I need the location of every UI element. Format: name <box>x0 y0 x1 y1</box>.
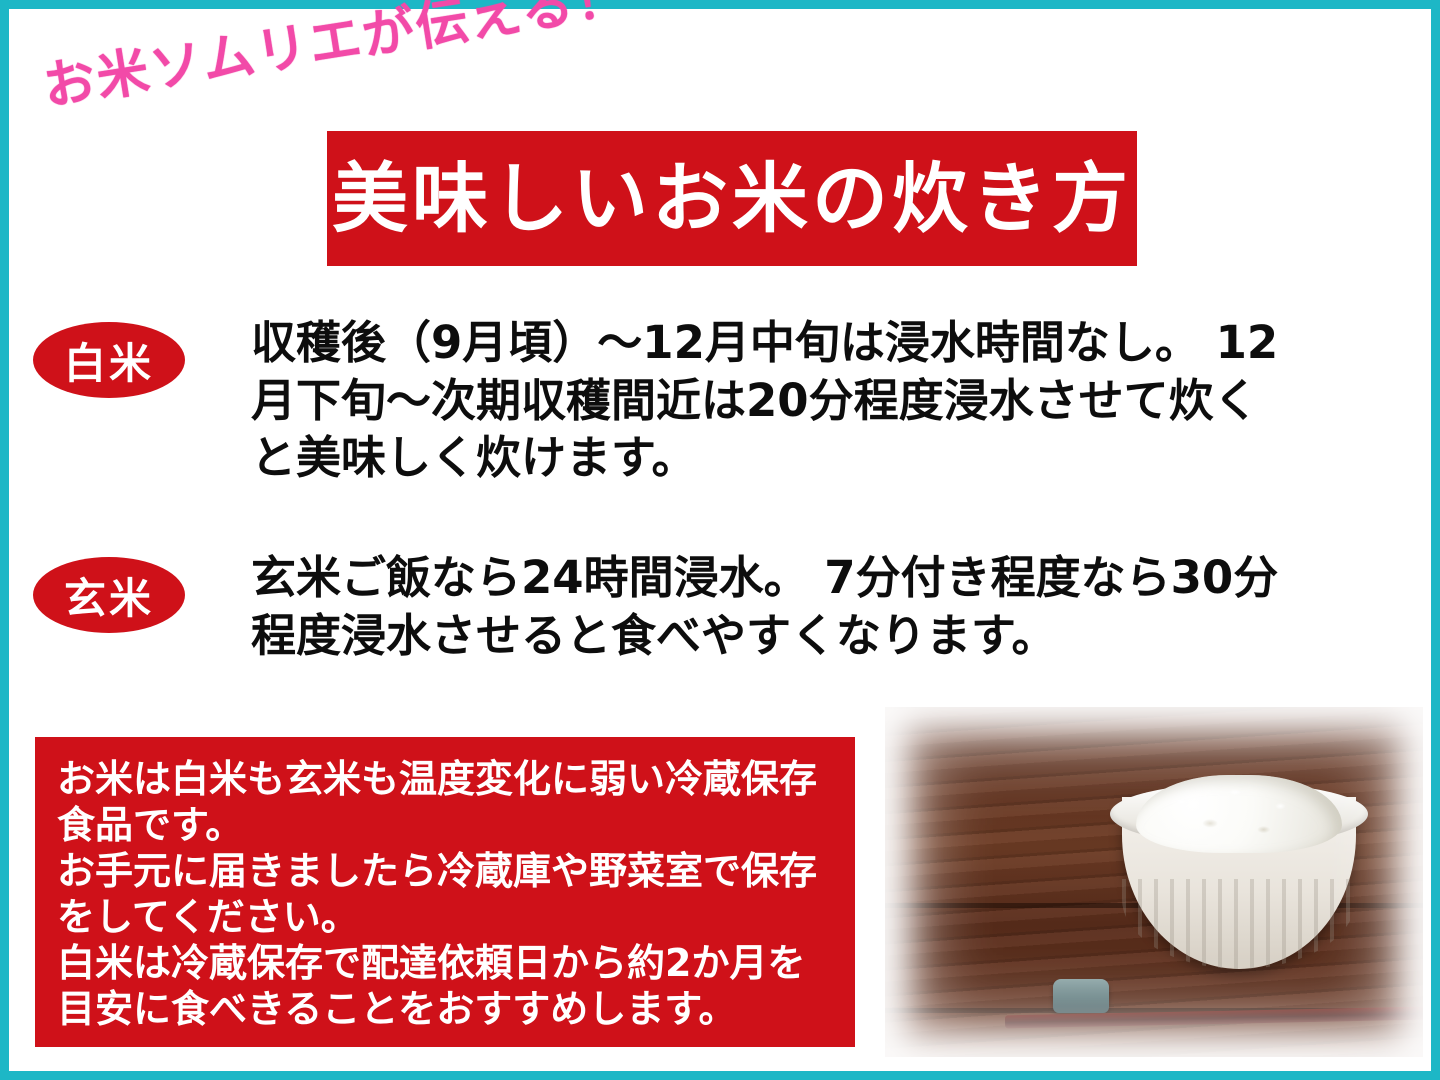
rice-bowl-photo <box>885 707 1423 1057</box>
cooked-rice <box>1136 775 1342 853</box>
section-genmai-line-1: 玄米ご飯なら24時間浸水。 7分付き程度なら30分 <box>251 549 1401 607</box>
bowl-ribs <box>1122 879 1356 969</box>
chopstick-rest <box>1053 979 1109 1013</box>
section-hakumai-line-2: 月下旬〜次期収穫間近は20分程度浸水させて炊く <box>251 372 1401 430</box>
section-hakumai: 白米 収穫後（9月頃）〜12月中旬は浸水時間なし。 12 月下旬〜次期収穫間近は… <box>33 314 1401 487</box>
title-banner: 美味しいお米の炊き方 <box>327 131 1137 266</box>
storage-note-line-2: 食品です。 <box>57 803 835 849</box>
section-genmai: 玄米 玄米ご飯なら24時間浸水。 7分付き程度なら30分 程度浸水させると食べや… <box>33 549 1401 664</box>
poster-root: お米ソムリエが伝える！ 美味しいお米の炊き方 白米 収穫後（9月頃）〜12月中旬… <box>0 0 1440 1080</box>
section-hakumai-line-1: 収穫後（9月頃）〜12月中旬は浸水時間なし。 12 <box>251 314 1401 372</box>
storage-note-line-5: 白米は冷蔵保存で配達依頼日から約2か月を <box>57 941 835 987</box>
storage-note-line-6: 目安に食べきることをおすすめします。 <box>57 987 835 1033</box>
badge-genmai: 玄米 <box>33 557 185 633</box>
storage-note-line-4: をしてください。 <box>57 895 835 941</box>
badge-hakumai: 白米 <box>33 322 185 398</box>
rice-grains <box>1136 775 1342 853</box>
section-genmai-line-2: 程度浸水させると食べやすくなります。 <box>251 607 1401 665</box>
page-title: 美味しいお米の炊き方 <box>332 161 1132 237</box>
section-genmai-body: 玄米ご飯なら24時間浸水。 7分付き程度なら30分 程度浸水させると食べやすくな… <box>251 549 1401 664</box>
rice-bowl <box>1110 769 1368 969</box>
section-hakumai-body: 収穫後（9月頃）〜12月中旬は浸水時間なし。 12 月下旬〜次期収穫間近は20分… <box>251 314 1401 487</box>
storage-note-line-1: お米は白米も玄米も温度変化に弱い冷蔵保存 <box>57 757 835 803</box>
storage-note-line-3: お手元に届きましたら冷蔵庫や野菜室で保存 <box>57 849 835 895</box>
poster-inner: お米ソムリエが伝える！ 美味しいお米の炊き方 白米 収穫後（9月頃）〜12月中旬… <box>9 9 1431 1071</box>
section-hakumai-line-3: と美味しく炊けます。 <box>251 429 1401 487</box>
storage-note-box: お米は白米も玄米も温度変化に弱い冷蔵保存 食品です。 お手元に届きましたら冷蔵庫… <box>35 737 855 1047</box>
kicker-headline: お米ソムリエが伝える！ <box>37 0 633 120</box>
